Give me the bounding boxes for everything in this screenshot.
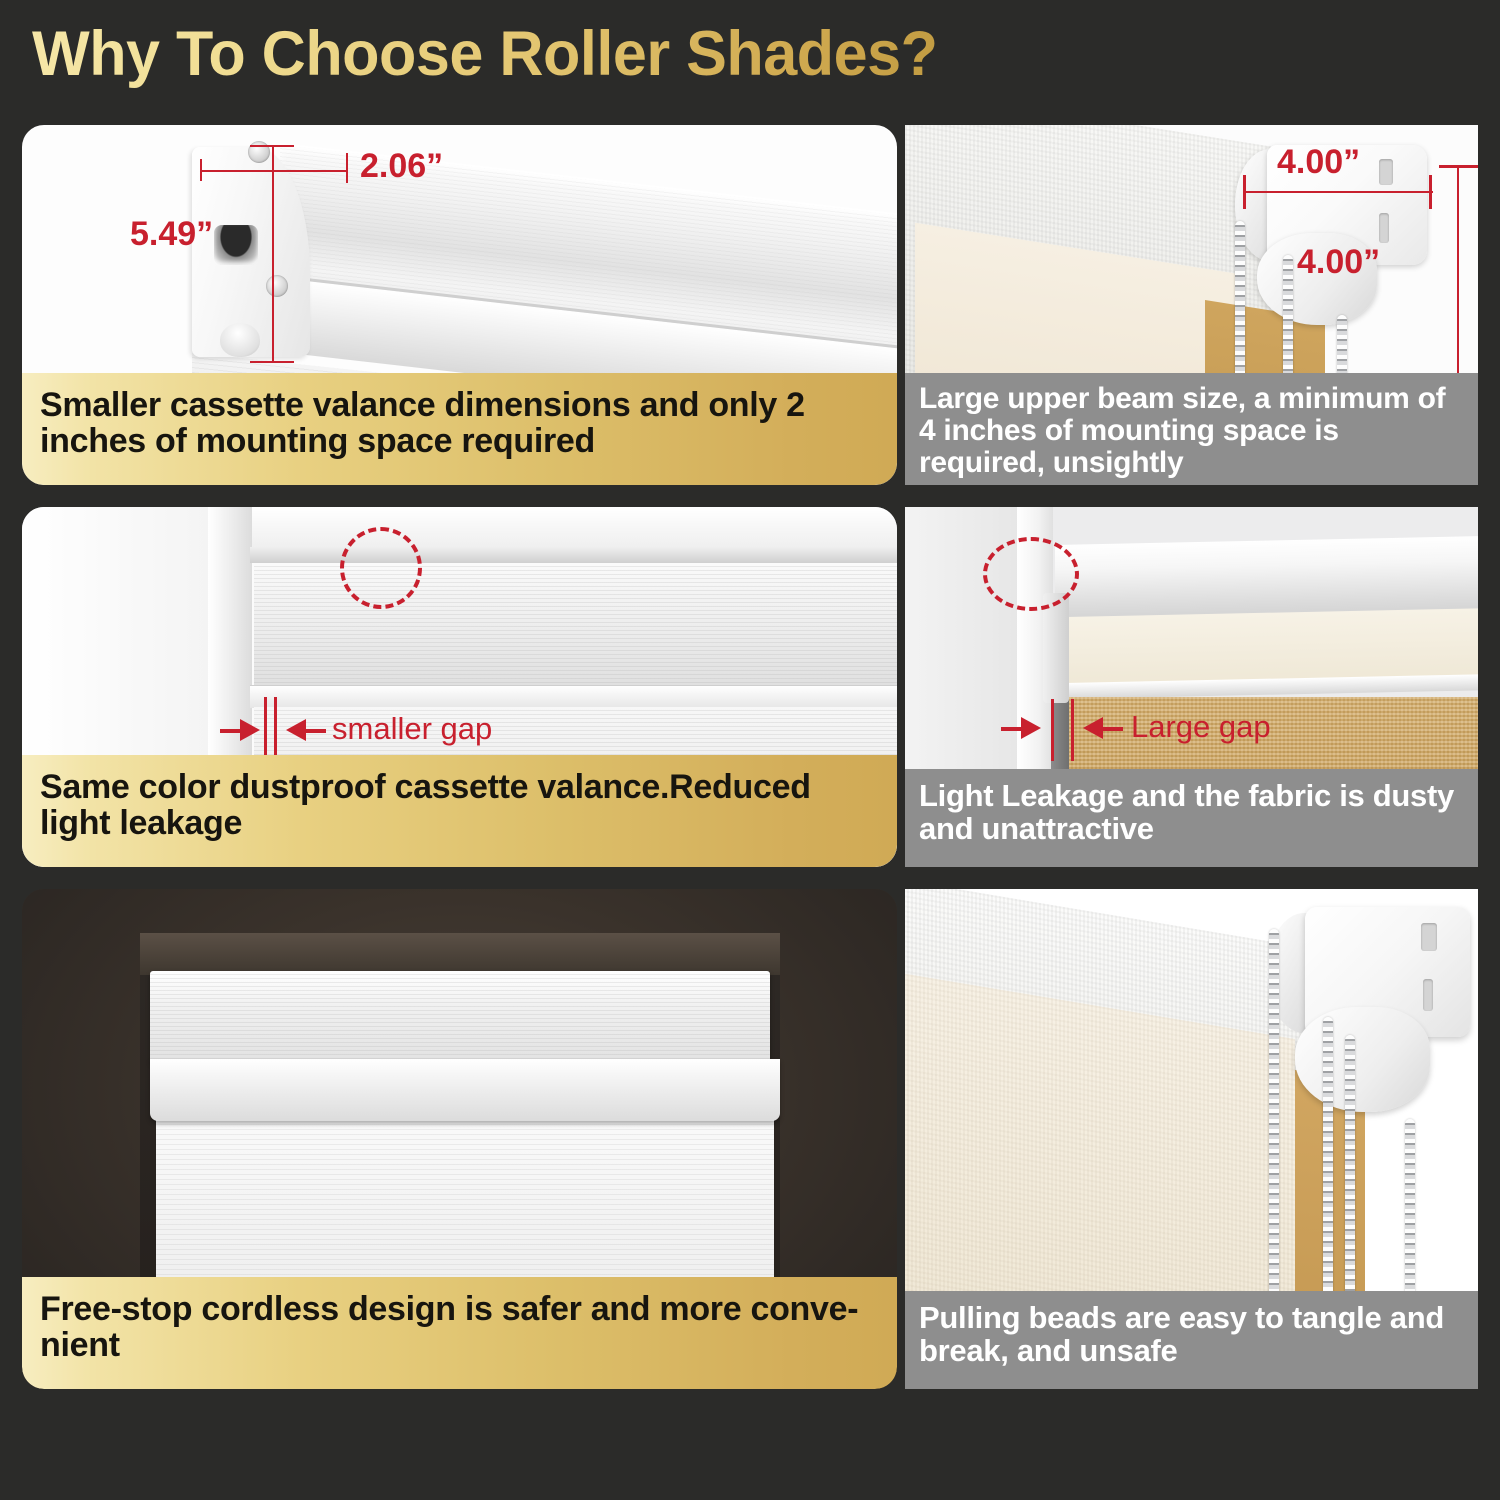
gap-label: Large gap: [1131, 709, 1271, 745]
arrow-right-icon: [1021, 717, 1041, 739]
width-dimension-label: 2.06”: [360, 147, 443, 186]
beaded-chain: [1269, 929, 1279, 1349]
arrow-left-icon: [1083, 717, 1103, 739]
panel-cassette-dimensions: 2.06” 5.49” Smaller cassette valance dim…: [22, 125, 897, 485]
gap-label: smaller gap: [332, 711, 492, 747]
height-dimension-label: 5.49”: [130, 215, 213, 254]
bracket-slot: [1421, 923, 1437, 951]
bracket-slot: [1379, 159, 1393, 185]
bracket-clip: [1043, 593, 1069, 703]
page-title: Why To Choose Roller Shades?: [32, 18, 937, 90]
cap-slot: [214, 225, 258, 265]
arrow-left-icon: [286, 719, 306, 741]
dimension-tick: [250, 361, 294, 363]
arrow-tail: [306, 729, 326, 733]
dimension-tick: [1243, 175, 1246, 209]
dimension-tick: [1439, 165, 1478, 168]
panel-caption: Smaller cassette valance dimensions and …: [22, 373, 897, 485]
width-dimension-line: [200, 170, 348, 172]
width-dimension-label: 4.00”: [1277, 143, 1360, 182]
dimension-tick: [250, 145, 294, 147]
dimension-tick: [200, 159, 202, 181]
height-dimension-line: [272, 145, 274, 363]
dimension-tick: [346, 153, 348, 183]
dimension-tick: [1429, 175, 1432, 209]
panel-caption: Large upper beam size, a minimum of 4 in…: [905, 373, 1478, 485]
panel-caption: Free-stop cordless design is safer and m…: [22, 1277, 897, 1389]
arrow-tail: [220, 729, 242, 733]
cassette-valance: [150, 971, 770, 1063]
valance-lip: [150, 1059, 780, 1121]
gap-marker: [1051, 699, 1054, 761]
width-dimension-line: [1243, 191, 1433, 193]
panel-smaller-gap: smaller gap Same color dustproof cassett…: [22, 507, 897, 867]
arrow-tail: [1103, 727, 1123, 731]
height-dimension-label: 4.00”: [1297, 243, 1380, 282]
highlight-circle: [983, 537, 1079, 611]
window-recess-top: [140, 933, 780, 975]
panel-upper-beam-size: 4.00” 4.00” Large upper beam size, a min…: [905, 125, 1478, 485]
highlight-circle: [340, 527, 422, 609]
bracket-slot: [1423, 979, 1433, 1011]
panel-pulling-beads: Pulling beads are easy to tangle and bre…: [905, 889, 1478, 1389]
panel-caption: Same color dustproof cassette valance.Re…: [22, 755, 897, 867]
infographic-root: Why To Choose Roller Shades? 2.06” 5.49”: [0, 0, 1500, 1500]
arrow-right-icon: [240, 719, 260, 741]
gap-marker: [1071, 699, 1074, 761]
panel-large-gap: Large gap Light Leakage and the fabric i…: [905, 507, 1478, 867]
panel-caption: Light Leakage and the fabric is dusty an…: [905, 769, 1478, 867]
bracket-lower-lobe: [1295, 1007, 1430, 1112]
arrow-tail: [1001, 727, 1023, 731]
cap-knob: [220, 323, 260, 357]
shade-middle-rail: [250, 685, 897, 708]
bracket-slot: [1379, 213, 1389, 243]
panel-caption: Pulling beads are easy to tangle and bre…: [905, 1291, 1478, 1389]
screw-icon: [266, 275, 288, 297]
panel-cordless-design: Free-stop cordless design is safer and m…: [22, 889, 897, 1389]
